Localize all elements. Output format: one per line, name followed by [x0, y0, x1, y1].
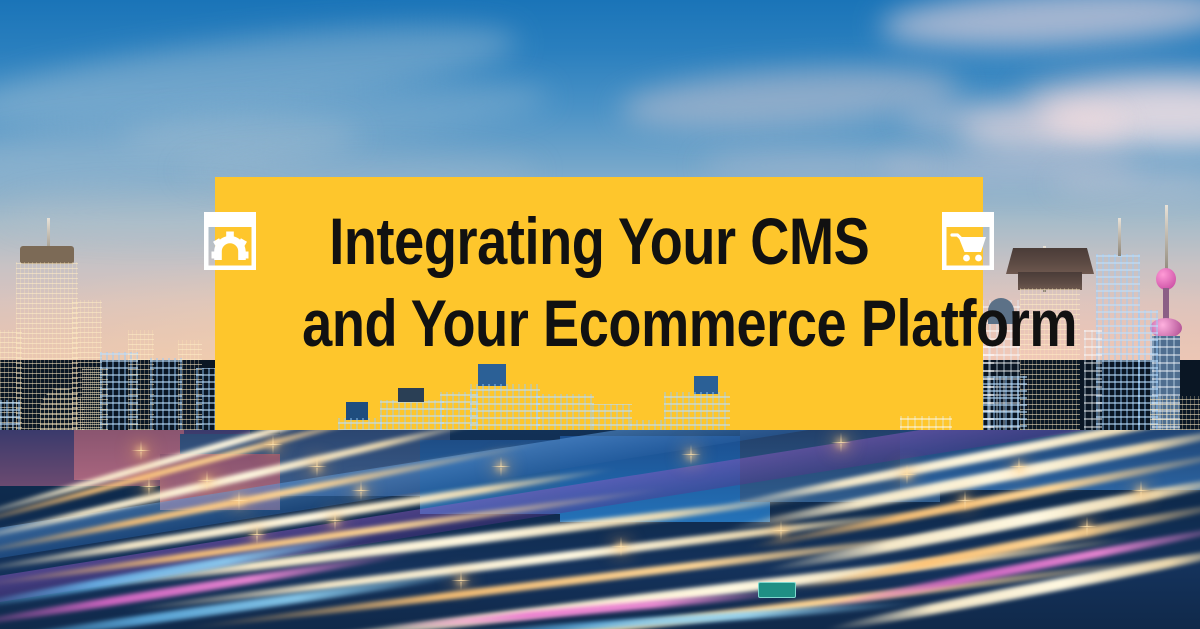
street-lamp-flare — [316, 466, 318, 468]
pearl-tower-column — [1163, 288, 1169, 322]
street-lamp-flare — [906, 474, 908, 476]
street-lamp-flare — [140, 450, 142, 452]
street-lamp-flare — [256, 534, 258, 536]
pearl-tower-sphere — [1156, 268, 1176, 290]
street-lamp-flare — [148, 486, 150, 488]
street-lamp-flare — [238, 500, 240, 502]
banner-image-canvas: Integrating Your CMS and Your Ecommerc — [0, 0, 1200, 629]
antenna-spire — [1118, 218, 1121, 256]
street-lamp-flare — [780, 530, 782, 532]
highway-direction-sign — [758, 582, 796, 598]
cms-gear-window-icon — [204, 212, 256, 270]
street-lamp-flare — [840, 442, 842, 444]
street-lamp-flare — [1018, 466, 1020, 468]
title-row: Integrating Your CMS — [237, 202, 961, 280]
page-title-line-2: and Your Ecommerce Platform — [302, 290, 896, 356]
street-lamp-flare — [460, 580, 462, 582]
street-lamp-flare — [500, 466, 502, 468]
street-lamp-flare — [690, 454, 692, 456]
page-title-line-1: Integrating Your CMS — [329, 208, 869, 274]
shopping-cart-window-icon — [942, 212, 994, 270]
street-lamp-flare — [272, 444, 274, 446]
street-lamp-flare — [620, 546, 622, 548]
street-lamp-flare — [964, 500, 966, 502]
tower-spire — [1165, 205, 1168, 275]
street-lamp-flare — [334, 520, 336, 522]
street-lamp-flare — [1140, 490, 1142, 492]
street-lamp-flare — [360, 490, 362, 492]
tower-crown — [1006, 248, 1094, 274]
street-lamp-flare — [206, 480, 208, 482]
street-lamp-flare — [1086, 526, 1088, 528]
elevated-highway-light-trails — [0, 430, 1200, 629]
